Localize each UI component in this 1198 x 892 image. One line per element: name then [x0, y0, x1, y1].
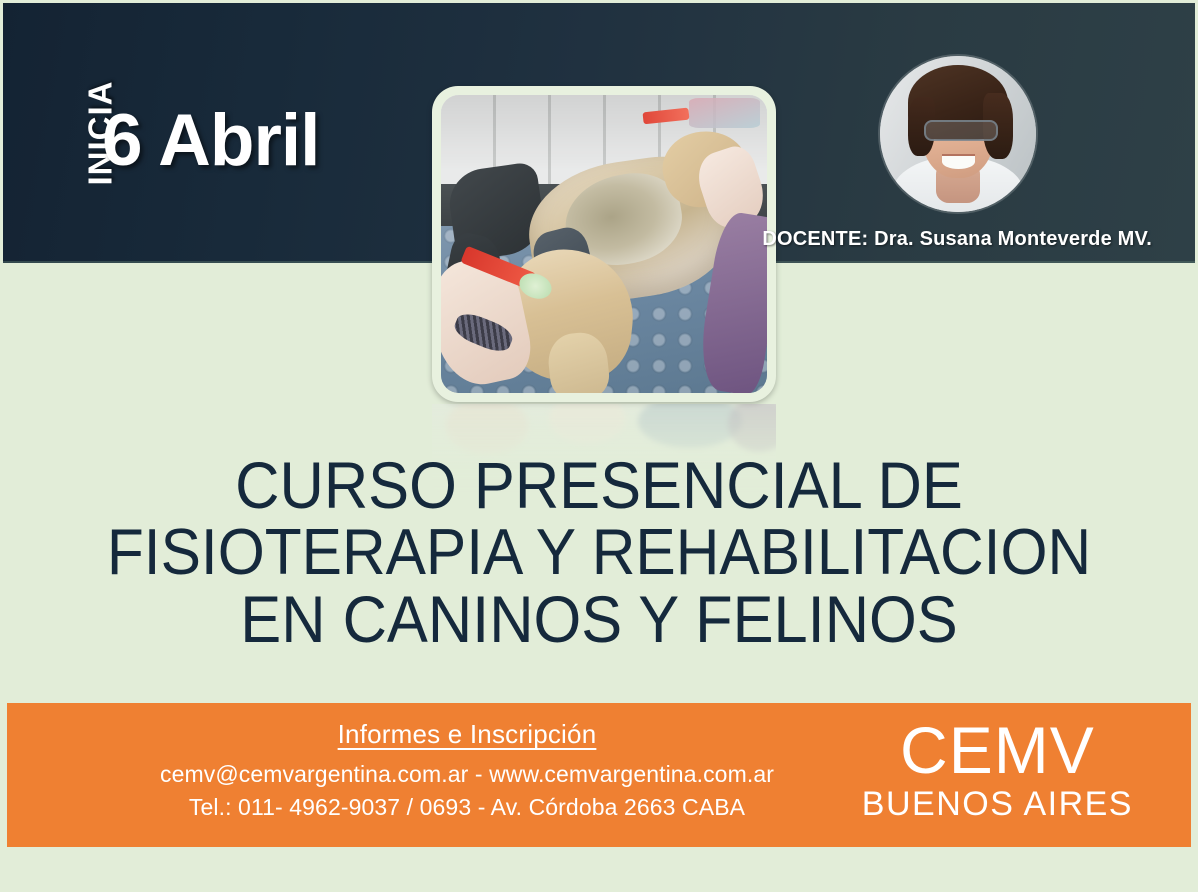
cemv-logo: CEMV BUENOS AIRES: [862, 717, 1133, 824]
logo-sub-text: BUENOS AIRES: [862, 785, 1133, 824]
title-line-3: EN CANINOS Y FELINOS: [79, 586, 1119, 653]
title-line-1: CURSO PRESENCIAL DE: [79, 452, 1119, 519]
reflection-blob-3: [638, 404, 741, 448]
reflection-blob-4: [728, 404, 776, 452]
reflection-blob-1: [446, 404, 529, 454]
instructor-avatar: [880, 56, 1036, 212]
contact-heading: Informes e Inscripción: [147, 719, 787, 750]
start-date: 6 Abril: [102, 104, 319, 177]
contact-email-web[interactable]: cemv@cemvargentina.com.ar - www.cemvarge…: [147, 758, 787, 791]
reflection-blob-2: [549, 404, 625, 444]
footer-bar: Informes e Inscripción cemv@cemvargentin…: [7, 703, 1191, 847]
avatar-glasses: [924, 120, 998, 141]
logo-main-text: CEMV: [862, 717, 1133, 783]
instructor-caption: DOCENTE: Dra. Susana Monteverde MV.: [640, 228, 1152, 251]
avatar-smile: [942, 154, 975, 168]
title-line-2: FISIOTERAPIA Y REHABILITACION: [79, 519, 1119, 585]
course-poster: INICIA 6 Abril: [0, 0, 1198, 892]
page-title: CURSO PRESENCIAL DE FISIOTERAPIA Y REHAB…: [40, 452, 1158, 653]
photo-shelf-items: [689, 98, 761, 128]
contact-phone-address: Tel.: 011- 4962-9037 / 0693 - Av. Córdob…: [147, 791, 787, 824]
contact-block: Informes e Inscripción cemv@cemvargentin…: [147, 719, 787, 823]
